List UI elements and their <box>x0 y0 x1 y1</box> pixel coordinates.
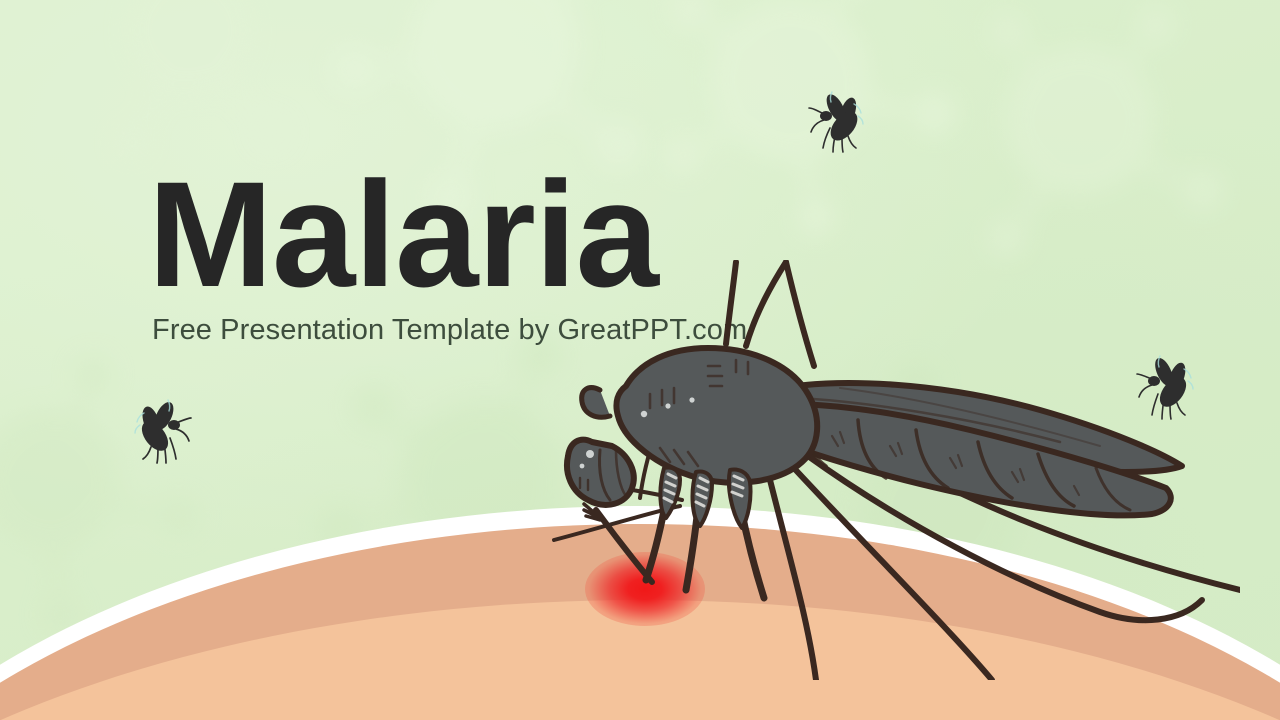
virus-particle-icon <box>930 0 1230 270</box>
virus-particle-icon <box>0 340 190 620</box>
virus-particle-icon <box>640 0 940 230</box>
flying-mosquito-right-icon <box>1130 348 1210 428</box>
flying-mosquito-top-right-icon <box>800 82 880 162</box>
main-mosquito-illustration <box>540 260 1240 680</box>
presentation-slide: Malaria Free Presentation Template by Gr… <box>0 0 1280 720</box>
virus-particle-icon <box>60 0 320 160</box>
flying-mosquito-left-icon <box>118 392 198 472</box>
